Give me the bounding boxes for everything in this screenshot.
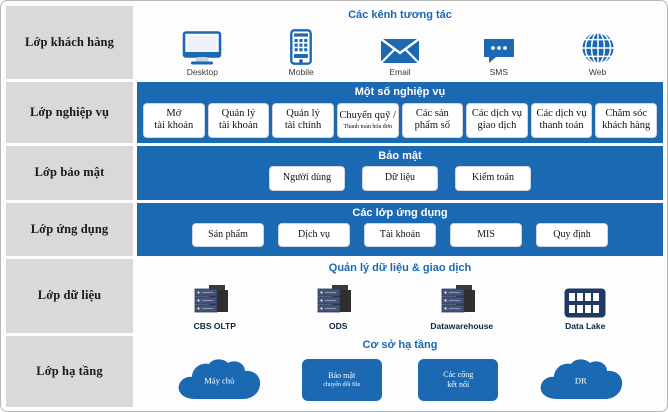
chip-line1: Các dịch vụ	[536, 108, 586, 120]
row-label-security: Lớp bảo mật	[6, 146, 133, 200]
security-title: Bảo mật	[378, 150, 421, 163]
channel-mobile[interactable]: Mobile	[252, 29, 351, 77]
channels-panel: Các kênh tương tác Desktop	[137, 6, 663, 79]
layer-row-security: Lớp bảo mật Bảo mật Người dùng Dữ liệu K…	[6, 146, 663, 200]
email-icon	[380, 37, 420, 65]
server-stack-icon	[192, 283, 238, 319]
data-panel: Quản lý dữ liệu & giao dịch	[137, 259, 663, 332]
chip-line1: Chuyển quỹ /	[339, 110, 396, 122]
infra-node-may-chu[interactable]: Máy chủ	[173, 357, 265, 403]
channels-icon-strip: Desktop	[143, 25, 657, 77]
channel-desktop[interactable]: Desktop	[153, 31, 252, 77]
row-label-application: Lớp ứng dụng	[6, 203, 133, 256]
chip-line1: Quản lý	[286, 108, 320, 120]
chip-line2: Thanh toán hóa đơn	[343, 123, 392, 130]
chip-line2: khách hàng	[602, 120, 650, 132]
data-node-ods[interactable]: ODS	[277, 283, 401, 331]
security-chip[interactable]: Dữ liệu	[362, 166, 438, 191]
business-chip-row: Mở tài khoản Quản lý tài khoản Quản lý t…	[143, 103, 657, 138]
application-chip[interactable]: Quy định	[536, 223, 608, 247]
channel-caption: Mobile	[289, 67, 314, 77]
chip-line1: Các dịch vụ	[472, 108, 522, 120]
architecture-diagram: Lớp khách hàng Các kênh tương tác	[0, 0, 668, 412]
row-content-customer: Các kênh tương tác Desktop	[137, 6, 663, 79]
chip-line1: Kiểm toán	[472, 172, 514, 184]
server-stack-icon	[315, 283, 361, 319]
layer-row-application: Lớp ứng dụng Các lớp ứng dụng Sản phẩm D…	[6, 203, 663, 256]
data-node-caption: CBS OLTP	[194, 321, 236, 331]
channel-web[interactable]: Web	[548, 31, 647, 77]
infra-node-dr[interactable]: DR	[535, 357, 627, 403]
data-node-caption: Datawarehouse	[430, 321, 493, 331]
row-content-infrastructure: Cơ sở hạ tầng Máy chủ Bảo mật chuyển đổi…	[137, 336, 663, 407]
security-chip[interactable]: Người dùng	[269, 166, 345, 191]
row-label-customer: Lớp khách hàng	[6, 6, 133, 79]
application-chip[interactable]: Tài khoản	[364, 223, 436, 247]
infra-node-label: DR	[535, 375, 627, 385]
row-label-data: Lớp dữ liệu	[6, 259, 133, 332]
channel-email[interactable]: Email	[351, 37, 450, 77]
row-content-business: Một số nghiệp vụ Mở tài khoản Quản lý tà…	[137, 82, 663, 142]
data-node-data-lake[interactable]: Data Lake	[524, 287, 648, 331]
chip-line1: Quy định	[553, 229, 591, 241]
business-chip[interactable]: Quản lý tài khoản	[208, 103, 270, 138]
chip-line1: Mở	[166, 108, 181, 120]
row-label-infrastructure: Lớp hạ tầng	[6, 336, 133, 407]
business-chip[interactable]: Chăm sóc khách hàng	[595, 103, 657, 138]
data-icon-strip: CBS OLTP	[143, 278, 657, 330]
chip-line2: tài khoản	[219, 120, 258, 132]
channels-title: Các kênh tương tác	[348, 9, 452, 22]
row-label-business: Lớp nghiệp vụ	[6, 82, 133, 142]
chip-line1: Các sản	[416, 108, 449, 120]
chip-line1: Tài khoản	[380, 229, 420, 241]
chip-line1: Sản phẩm	[208, 229, 248, 241]
row-content-data: Quản lý dữ liệu & giao dịch	[137, 259, 663, 332]
server-stack-icon	[439, 283, 485, 319]
layer-row-customer: Lớp khách hàng Các kênh tương tác	[6, 6, 663, 79]
business-title: Một số nghiệp vụ	[355, 86, 445, 99]
infra-node-line1: Bảo mật	[328, 371, 355, 381]
chip-line2: tài khoản	[154, 120, 193, 132]
web-globe-icon	[581, 31, 615, 65]
data-node-caption: ODS	[329, 321, 347, 331]
mobile-icon	[290, 29, 312, 65]
channel-sms[interactable]: SMS	[449, 37, 548, 77]
business-chip[interactable]: Mở tài khoản	[143, 103, 205, 138]
layer-row-infrastructure: Lớp hạ tầng Cơ sở hạ tầng Máy chủ Bảo m	[6, 336, 663, 407]
infra-node-line2: chuyển đổi file	[323, 381, 360, 389]
chip-line2: thanh toán	[540, 120, 584, 132]
channel-caption: Web	[589, 67, 606, 77]
row-content-security: Bảo mật Người dùng Dữ liệu Kiểm toán	[137, 146, 663, 200]
infra-node-bao-mat[interactable]: Bảo mật chuyển đổi file	[302, 359, 382, 401]
data-title: Quản lý dữ liệu & giao dịch	[329, 262, 471, 275]
business-panel: Một số nghiệp vụ Mở tài khoản Quản lý tà…	[137, 82, 663, 142]
row-content-application: Các lớp ứng dụng Sản phẩm Dịch vụ Tài kh…	[137, 203, 663, 256]
channel-caption: SMS	[490, 67, 508, 77]
chip-line1: MIS	[477, 229, 495, 241]
layer-row-business: Lớp nghiệp vụ Một số nghiệp vụ Mở tài kh…	[6, 82, 663, 142]
data-node-caption: Data Lake	[565, 321, 605, 331]
layer-row-data: Lớp dữ liệu Quản lý dữ liệu & giao dịch	[6, 259, 663, 332]
desktop-icon	[182, 31, 222, 65]
business-chip[interactable]: Quản lý tài chính	[272, 103, 334, 138]
chip-line1: Dịch vụ	[298, 229, 330, 241]
business-chip[interactable]: Các dịch vụ giao dịch	[466, 103, 528, 138]
chip-line1: Người dùng	[283, 172, 331, 184]
application-chip[interactable]: MIS	[450, 223, 522, 247]
security-chip[interactable]: Kiểm toán	[455, 166, 531, 191]
business-chip[interactable]: Các sản phẩm số	[402, 103, 464, 138]
sms-icon	[482, 37, 516, 65]
application-chip[interactable]: Sản phẩm	[192, 223, 264, 247]
chip-line2: phẩm số	[415, 120, 450, 132]
security-chip-row: Người dùng Dữ liệu Kiểm toán	[143, 166, 657, 191]
infra-node-cac-cong[interactable]: Các cổng kết nối	[418, 359, 498, 401]
business-chip[interactable]: Các dịch vụ thanh toán	[531, 103, 593, 138]
infrastructure-node-strip: Máy chủ Bảo mật chuyển đổi file Các cổng…	[143, 355, 657, 405]
application-chip[interactable]: Dịch vụ	[278, 223, 350, 247]
chip-line2: tài chính	[285, 120, 321, 132]
infra-node-line1: Các cổng	[443, 370, 473, 380]
application-title: Các lớp ứng dụng	[352, 207, 447, 220]
application-chip-row: Sản phẩm Dịch vụ Tài khoản MIS Quy định	[143, 223, 657, 247]
application-panel: Các lớp ứng dụng Sản phẩm Dịch vụ Tài kh…	[137, 203, 663, 256]
chip-line2: giao dịch	[478, 120, 517, 132]
business-chip[interactable]: Chuyển quỹ / Thanh toán hóa đơn	[337, 103, 399, 138]
security-panel: Bảo mật Người dùng Dữ liệu Kiểm toán	[137, 146, 663, 200]
infrastructure-title: Cơ sở hạ tầng	[363, 339, 438, 352]
infrastructure-panel: Cơ sở hạ tầng Máy chủ Bảo mật chuyển đổi…	[137, 336, 663, 407]
data-node-datawarehouse[interactable]: Datawarehouse	[400, 283, 524, 331]
data-lake-grid-icon	[563, 287, 607, 319]
infra-node-label: Máy chủ	[173, 375, 265, 385]
channel-caption: Desktop	[187, 67, 218, 77]
chip-line1: Chăm sóc	[605, 108, 647, 120]
channel-caption: Email	[389, 67, 410, 77]
chip-line1: Dữ liệu	[385, 172, 415, 184]
infra-node-line2: kết nối	[447, 380, 469, 390]
chip-line1: Quản lý	[222, 108, 256, 120]
data-node-cbs-oltp[interactable]: CBS OLTP	[153, 283, 277, 331]
